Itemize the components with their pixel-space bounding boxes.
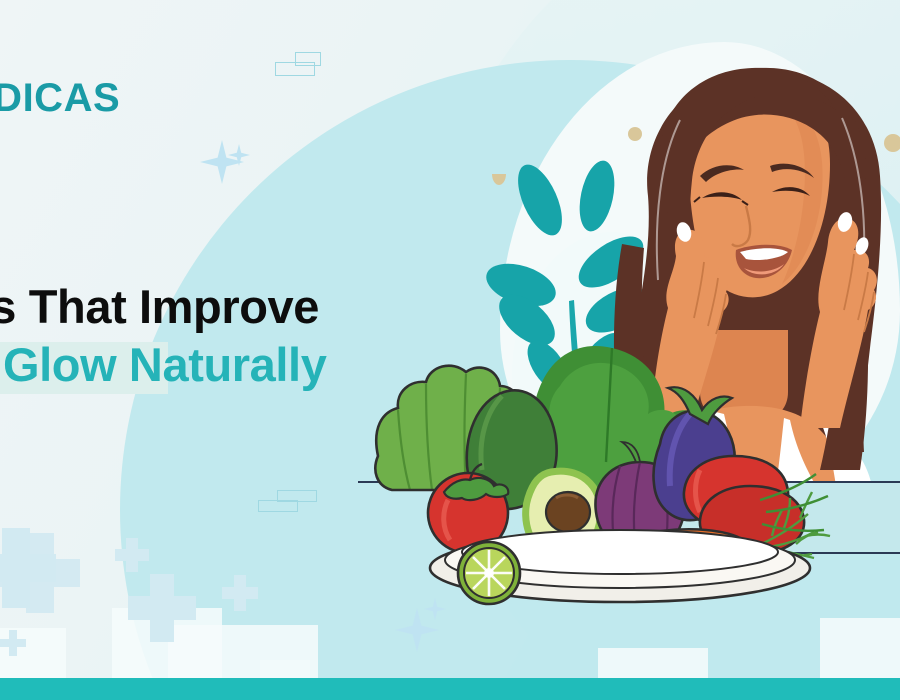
headline-line-2-rest: Naturally: [116, 338, 326, 391]
headline-line-2-highlight: n Glow: [0, 338, 116, 391]
headline-line-2: n Glow Naturally: [0, 336, 326, 406]
headline-line-1: ds That Improve: [0, 278, 326, 336]
promo-banner: EDICAS ds That Improve n Glow Naturally: [0, 0, 900, 700]
bottom-accent-band: [0, 678, 900, 700]
lime-half: [458, 542, 520, 604]
brand-logo[interactable]: EDICAS: [0, 76, 120, 121]
headline: ds That Improve n Glow Naturally: [0, 278, 326, 406]
